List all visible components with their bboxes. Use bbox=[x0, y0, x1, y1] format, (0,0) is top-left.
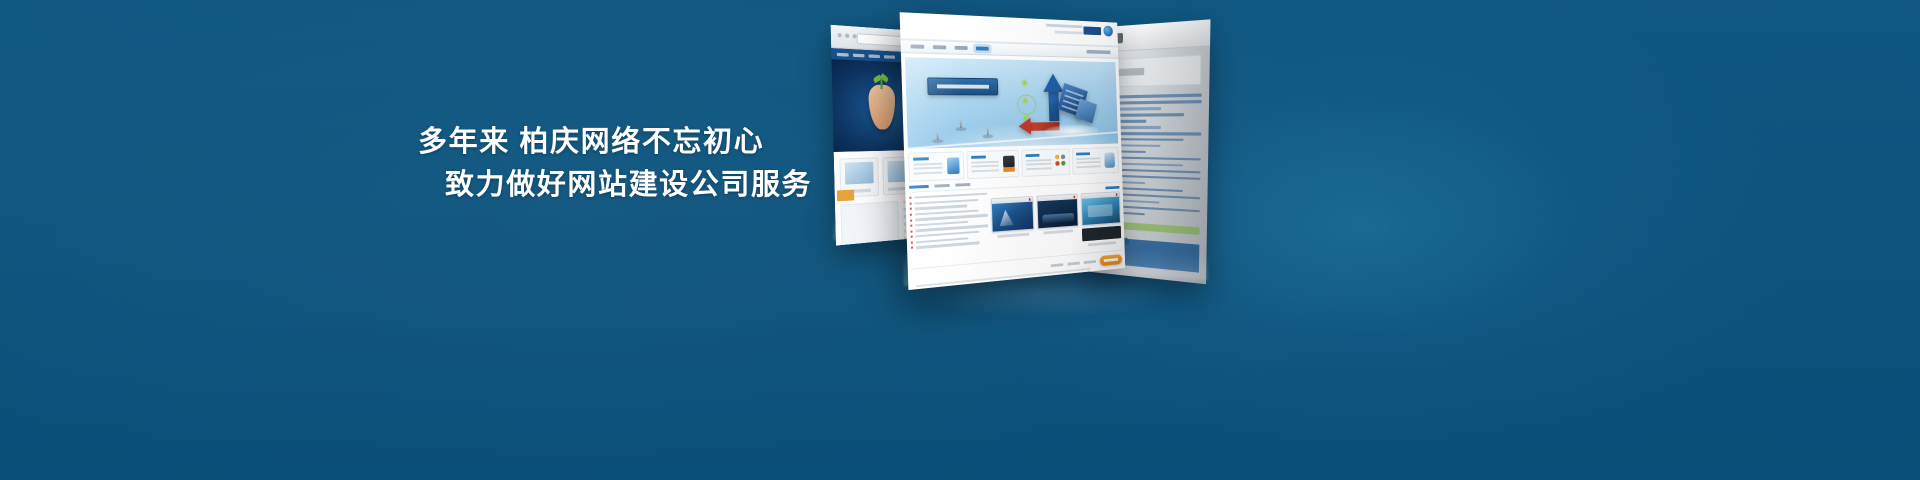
footer-copyright bbox=[916, 267, 1090, 287]
perspective-container bbox=[820, 0, 1220, 320]
footer-link bbox=[1051, 263, 1064, 267]
section-tab bbox=[955, 183, 970, 187]
sprout-icon bbox=[876, 74, 889, 89]
browser-mockup-center bbox=[900, 12, 1126, 290]
hero-title-plate bbox=[927, 77, 998, 95]
feature-card bbox=[908, 151, 964, 181]
nav-contact bbox=[1087, 50, 1111, 54]
screenshot-montage bbox=[820, 0, 1220, 320]
orb-green-icon bbox=[951, 101, 969, 119]
section-tab-active bbox=[909, 185, 929, 189]
orb-orange-icon bbox=[928, 115, 945, 132]
logo-mark-icon bbox=[1103, 26, 1113, 37]
feature-card bbox=[966, 150, 1019, 179]
news-list bbox=[909, 193, 988, 265]
feature-icon bbox=[947, 157, 960, 174]
nav-item bbox=[933, 45, 946, 49]
footer-link bbox=[1084, 260, 1096, 264]
arrow-left-icon bbox=[1018, 118, 1031, 135]
hand-illustration bbox=[868, 84, 895, 129]
feature-card bbox=[1072, 147, 1119, 175]
portfolio-thumb bbox=[1037, 194, 1080, 251]
portfolio-thumb bbox=[1081, 191, 1121, 246]
nav-item bbox=[955, 46, 968, 50]
center-hero-banner bbox=[905, 57, 1118, 149]
center-feature-cards bbox=[908, 147, 1119, 182]
portfolio-thumb bbox=[990, 196, 1035, 254]
section-tab bbox=[934, 184, 949, 188]
nav-item-active bbox=[976, 47, 989, 51]
footer-link bbox=[1067, 262, 1079, 266]
nav-item bbox=[910, 45, 924, 49]
arrow-up-icon bbox=[1043, 73, 1064, 92]
banner-stage: 多年来 柏庆网络不忘初心 致力做好网站建设公司服务 bbox=[0, 0, 1920, 480]
window-dots-icon bbox=[837, 33, 856, 39]
feature-icon bbox=[1104, 152, 1115, 167]
left-feature-block bbox=[840, 201, 900, 246]
portfolio-section bbox=[990, 186, 1121, 258]
portfolio-grid bbox=[990, 191, 1121, 254]
feature-card bbox=[1021, 148, 1071, 177]
feature-icon bbox=[1055, 154, 1066, 170]
footer-cta-button bbox=[1100, 254, 1122, 266]
hero-dot-column bbox=[1022, 81, 1028, 121]
site-logo bbox=[1083, 25, 1113, 37]
feature-icon bbox=[1002, 156, 1014, 172]
header-subtagline bbox=[1055, 31, 1083, 35]
orb-blue-icon bbox=[979, 111, 995, 127]
left-badge bbox=[837, 190, 854, 202]
header-tagline bbox=[1046, 24, 1082, 28]
